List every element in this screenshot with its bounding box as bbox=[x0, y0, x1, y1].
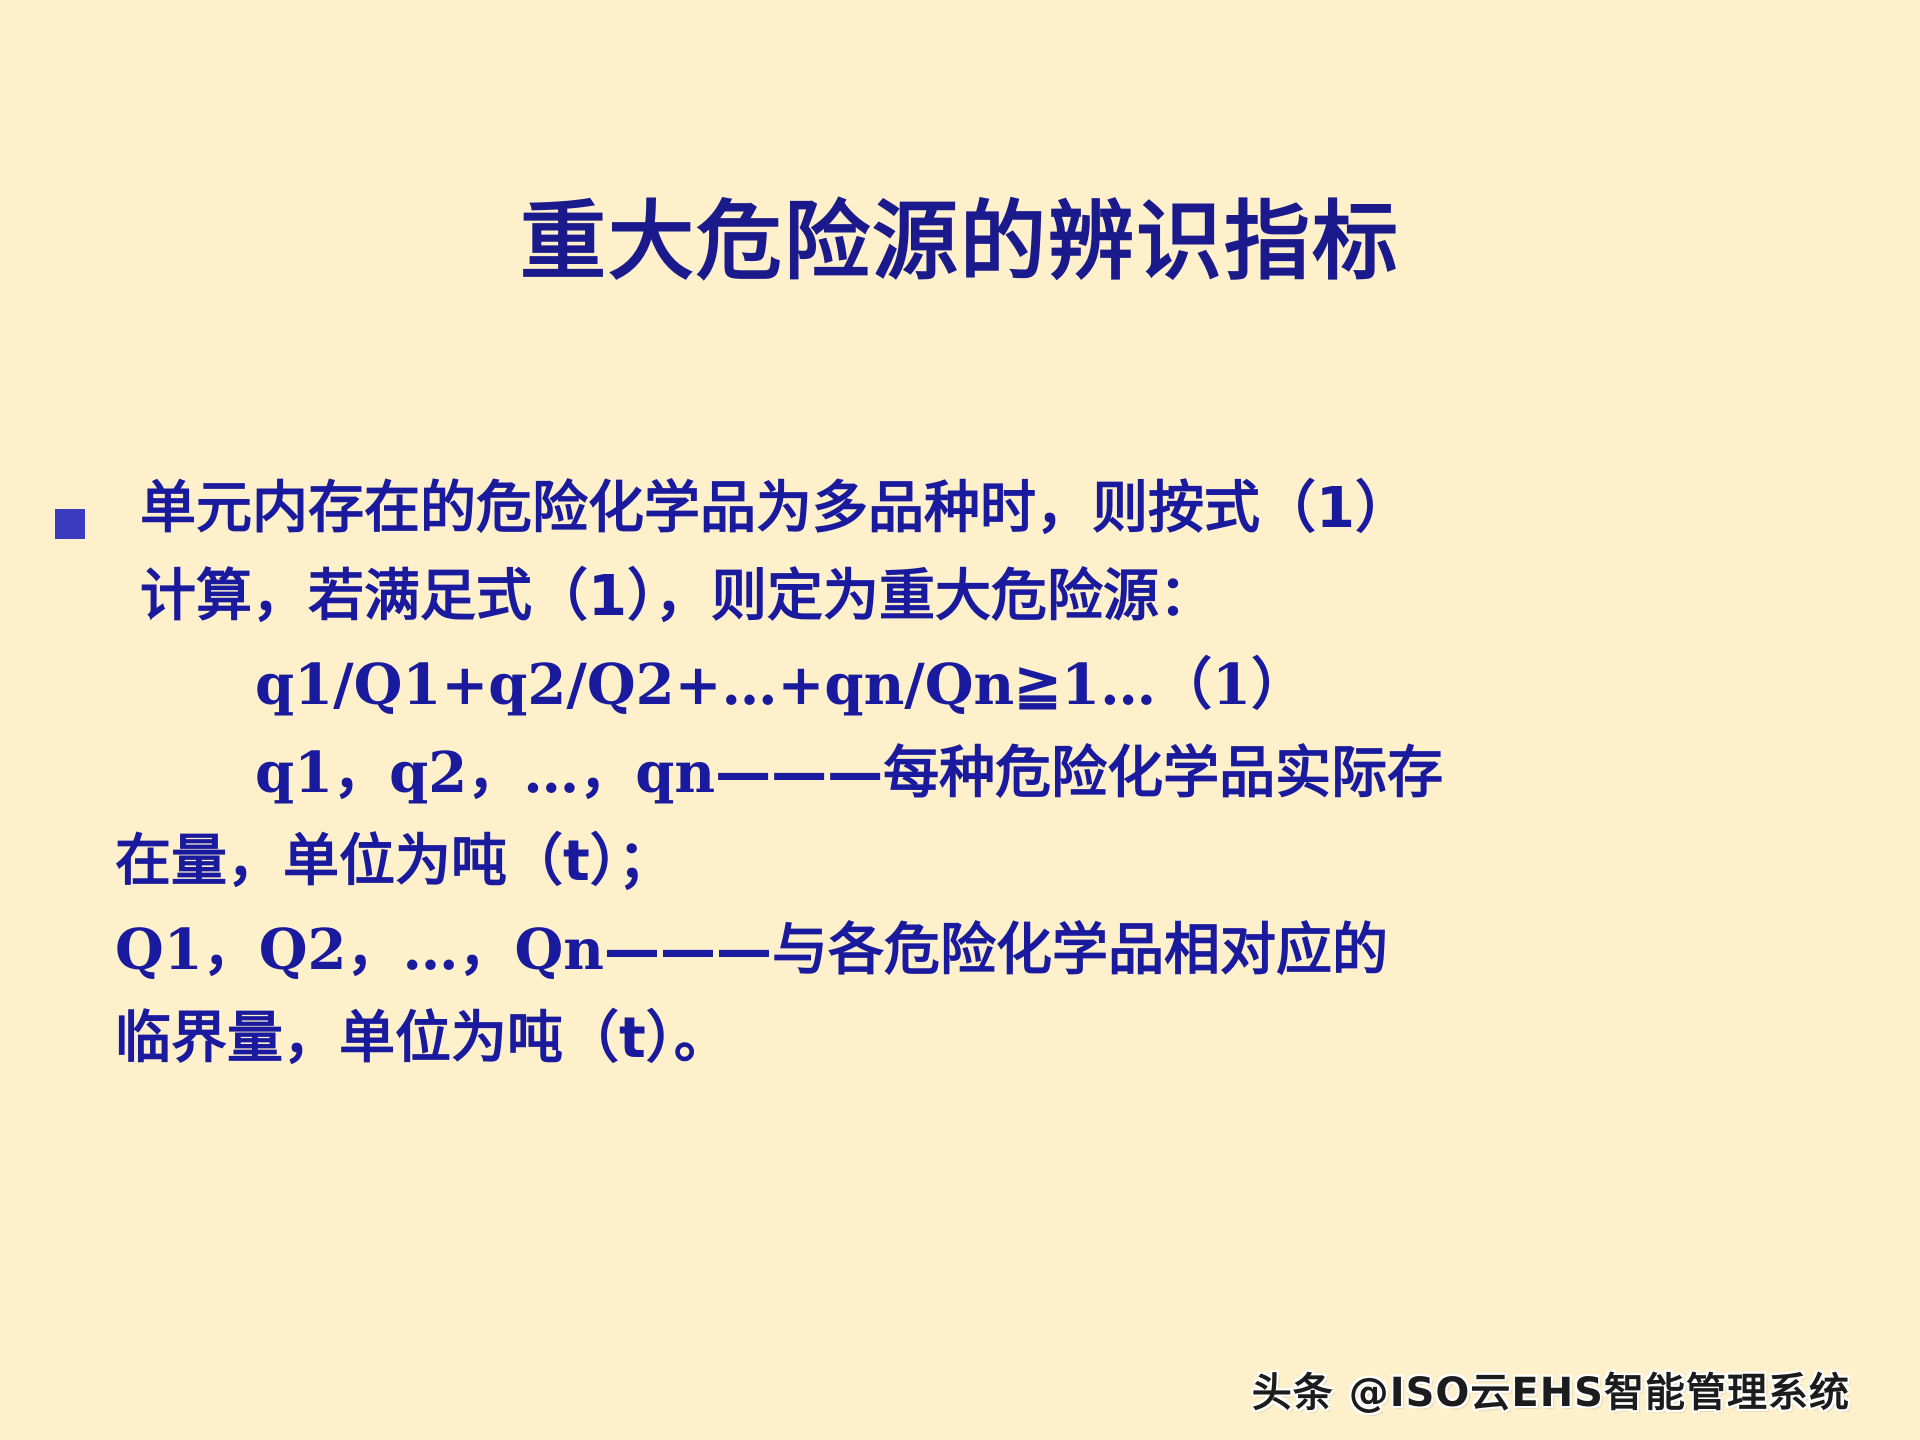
body-line-5: 在量，单位为吨（t）； bbox=[55, 818, 1865, 906]
body-line-2: 计算，若满足式（1），则定为重大危险源： bbox=[55, 553, 1865, 641]
formula-line: q1/Q1+q2/Q2+…+qn/Qn≧1…（1） bbox=[55, 641, 1865, 729]
page-title: 重大危险源的辨识指标 bbox=[0, 196, 1920, 289]
watermark-text: 头条 @ISO云EHS智能管理系统 bbox=[1252, 1360, 1850, 1418]
body-content: 单元内存在的危险化学品为多品种时，则按式（1） 计算，若满足式（1），则定为重大… bbox=[55, 465, 1865, 1083]
variables-q: q1，q2，…，qn bbox=[255, 740, 715, 806]
slide-canvas: 重大危险源的辨识指标 单元内存在的危险化学品为多品种时，则按式（1） 计算，若满… bbox=[0, 0, 1920, 1440]
definition-Q: ———与各危险化学品相对应的 bbox=[604, 918, 1388, 983]
variables-Q: Q1，Q2，…，Qn bbox=[115, 917, 604, 983]
square-bullet-icon bbox=[55, 509, 85, 539]
definition-q: ———每种危险化学品实际存 bbox=[715, 741, 1443, 806]
body-line-6: Q1，Q2，…，Qn———与各危险化学品相对应的 bbox=[55, 906, 1865, 995]
body-line-1: 单元内存在的危险化学品为多品种时，则按式（1） bbox=[55, 465, 1865, 553]
body-line-4: q1，q2，…，qn———每种危险化学品实际存 bbox=[55, 729, 1865, 818]
body-line-7: 临界量，单位为吨（t）。 bbox=[55, 995, 1865, 1083]
bullet-list-item: 单元内存在的危险化学品为多品种时，则按式（1） bbox=[55, 465, 1865, 553]
